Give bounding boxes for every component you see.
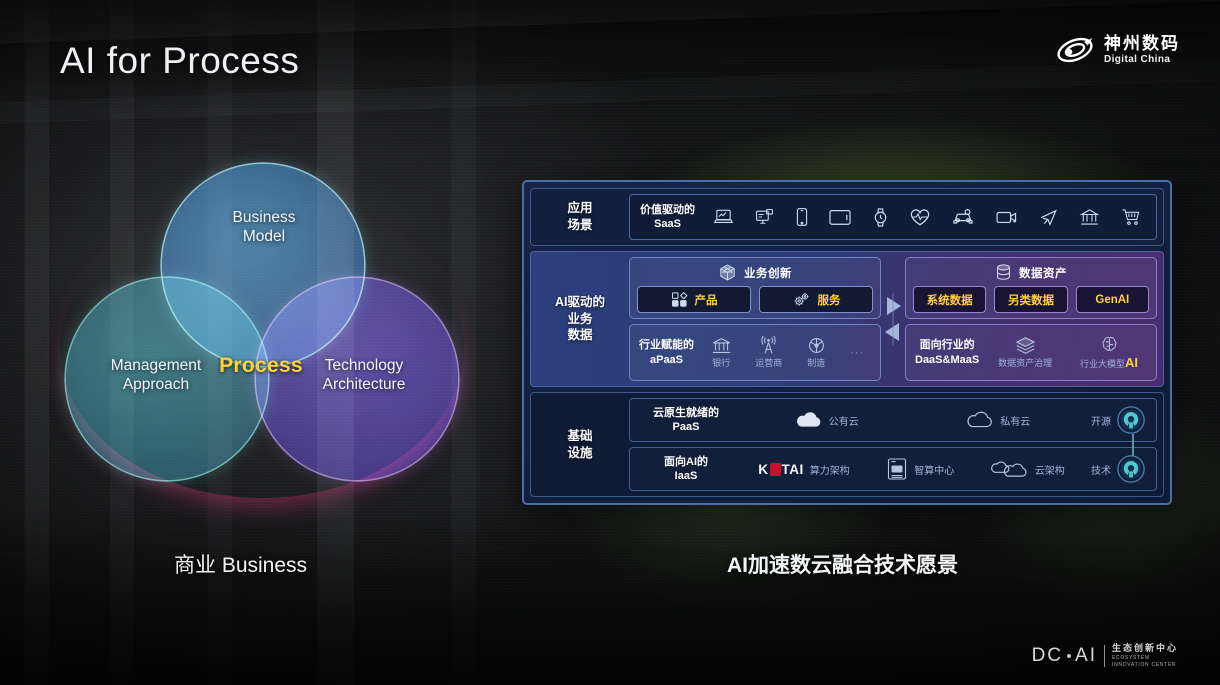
- group-head-data-assets: 数据资产: [913, 263, 1149, 282]
- industry-bank-label: 银行: [712, 356, 730, 369]
- paas-items: 公有云 私有云: [744, 410, 1079, 430]
- svg-text:AI: AI: [894, 467, 900, 473]
- ai-server-icon: AI: [886, 457, 908, 481]
- cloud-architecture-label: 云架构: [1035, 462, 1065, 477]
- row-title-iaas: 面向AI的 IaaS: [640, 455, 732, 484]
- footer-logo-dc: DC: [1032, 645, 1063, 667]
- double-chevron-arrow-icon: [882, 291, 904, 347]
- compute-architecture-label: 算力架构: [810, 462, 850, 477]
- footer-logo-divider: [1104, 645, 1105, 667]
- band-label-ai-driven-business-data: AI驱动的 业务 数据: [531, 252, 629, 386]
- video-camera-icon: [995, 208, 1019, 226]
- chip-product[interactable]: 产品: [637, 286, 751, 313]
- node-opensource-label: 开源: [1091, 413, 1111, 428]
- group-title-business-innovation: 业务创新: [744, 265, 792, 281]
- band-ai-driven-business-data: AI驱动的 业务 数据: [530, 251, 1164, 387]
- opensource-node-icon: [1116, 405, 1146, 435]
- chip-label-product: 产品: [695, 292, 718, 308]
- chip-label-alternative-data: 另类数据: [1008, 292, 1054, 308]
- chips-data-assets: 系统数据 另类数据 GenAI: [913, 286, 1149, 313]
- kutai-logo: KTAI: [758, 462, 804, 477]
- band-label-application-scenarios: 应用 场景: [531, 189, 629, 245]
- group-title-data-assets: 数据资产: [1019, 265, 1067, 281]
- heartbeat-icon: [909, 207, 931, 227]
- footer-logo-ai: AI: [1075, 645, 1097, 667]
- group-data-assets: 数据资产 系统数据 另类数据 GenAI: [905, 257, 1157, 319]
- industry-manufacturing[interactable]: 制造: [806, 336, 827, 369]
- ai-compute-center-label: 智算中心: [914, 462, 954, 477]
- data-layers-icon: [1014, 336, 1037, 355]
- footer-logo-cn: 生态创新中心: [1112, 643, 1178, 653]
- band-body-apps: 价值驱动的 SaaS: [629, 189, 1163, 245]
- caption-tech-vision: AI加速数云融合技术愿景: [727, 549, 958, 579]
- chip-label-system-data: 系统数据: [927, 292, 973, 308]
- digital-china-swirl-icon: [1055, 33, 1095, 67]
- footer-logo: DC AI 生态创新中心 ECOSYSTEM INNOVATION CENTER: [1032, 643, 1178, 669]
- saas-card-title: 价值驱动的 SaaS: [640, 203, 695, 232]
- venn-diagram: Business Model Management Approach Techn…: [66, 164, 458, 504]
- multi-cloud-icon: [991, 458, 1029, 480]
- public-cloud-item[interactable]: 公有云: [793, 410, 859, 430]
- footer-logo-dot-icon: [1067, 654, 1071, 658]
- cloud-filled-icon: [793, 410, 823, 430]
- chip-system-data[interactable]: 系统数据: [913, 286, 986, 313]
- bidirectional-arrow: [881, 257, 905, 381]
- column-business-innovation: 业务创新 产品 服务: [629, 257, 881, 381]
- column-data-assets: 数据资产 系统数据 另类数据 GenAI: [905, 257, 1157, 381]
- data-governance-label: 数据资产治理: [998, 356, 1052, 369]
- data-governance-item[interactable]: 数据资产治理: [998, 336, 1052, 369]
- group-business-innovation: 业务创新 产品 服务: [629, 257, 881, 319]
- node-technology-label: 技术: [1091, 462, 1111, 477]
- band-body-data: 业务创新 产品 服务: [629, 252, 1163, 386]
- cloud-outline-icon: [964, 410, 994, 430]
- group-apaas: 行业赋能的 aPaaS 银行 运营商: [629, 324, 881, 381]
- node-technology[interactable]: 技术: [1091, 454, 1146, 484]
- page-title: AI for Process: [60, 40, 299, 82]
- venn-label-business: Business Model: [202, 208, 326, 247]
- manufacturing-gear-icon: [806, 336, 827, 355]
- car-icon: [951, 207, 975, 227]
- industry-telecom[interactable]: 运营商: [755, 336, 782, 369]
- chip-service[interactable]: 服务: [759, 286, 873, 313]
- chip-label-genai: GenAI: [1095, 294, 1129, 306]
- brand-name-en: Digital China: [1104, 55, 1180, 65]
- caption-business: 商业 Business: [174, 549, 307, 579]
- apaas-industry-items: 银行 运营商 制造 ···: [704, 336, 871, 369]
- industry-llm-item[interactable]: 行业大模型AI: [1080, 335, 1138, 370]
- private-cloud-label: 私有云: [1000, 413, 1030, 428]
- industry-manufacturing-label: 制造: [807, 356, 825, 369]
- band-infrastructure: 基础 设施 云原生就绪的 PaaS 公有云: [530, 392, 1164, 497]
- gears-icon: [792, 291, 811, 308]
- laptop-chart-icon: [713, 207, 734, 227]
- airplane-icon: [1038, 207, 1059, 227]
- chips-business-innovation: 产品 服务: [637, 286, 873, 313]
- chip-label-service: 服务: [818, 292, 841, 308]
- shopping-cart-icon: [1120, 207, 1142, 227]
- database-icon: [995, 263, 1012, 282]
- brand-logo: 神州数码 Digital China: [1055, 33, 1180, 67]
- tablet-icon: [828, 207, 852, 227]
- footer-logo-text: 生态创新中心 ECOSYSTEM INNOVATION CENTER: [1112, 643, 1178, 669]
- brand-name-cn: 神州数码: [1104, 35, 1180, 52]
- saas-card: 价值驱动的 SaaS: [629, 194, 1157, 240]
- group-daas-maas: 面向行业的 DaaS&MaaS 数据资产治理: [905, 324, 1157, 381]
- industry-llm-label: 行业大模型AI: [1080, 355, 1138, 370]
- application-icon-row: [709, 207, 1146, 228]
- public-cloud-label: 公有云: [829, 413, 859, 428]
- node-connector-line: [1132, 434, 1134, 456]
- band-body-infrastructure: 云原生就绪的 PaaS 公有云 私有云 开源: [629, 393, 1163, 496]
- venn-circle-business: [162, 164, 364, 366]
- data-columns: 业务创新 产品 服务: [629, 257, 1157, 381]
- bank-icon: [1079, 207, 1100, 227]
- brain-circuit-icon: [1098, 335, 1121, 354]
- slide-canvas: AI for Process 神州数码 Digital China Busine…: [0, 0, 1220, 685]
- cube-network-icon: [718, 263, 737, 282]
- venn-label-process: Process: [196, 354, 326, 378]
- blocks-icon: [671, 291, 688, 308]
- band-label-infrastructure: 基础 设施: [531, 393, 629, 496]
- node-opensource[interactable]: 开源: [1091, 405, 1146, 435]
- technology-architecture-panel: 应用 场景 价值驱动的 SaaS: [522, 180, 1172, 505]
- group-title-daas-maas: 面向行业的 DaaS&MaaS: [915, 338, 979, 367]
- industry-bank[interactable]: 银行: [711, 336, 732, 369]
- technology-node-icon: [1116, 454, 1146, 484]
- desktop-monitor-icon: [754, 207, 775, 227]
- industry-telecom-label: 运营商: [755, 356, 782, 369]
- band-application-scenarios: 应用 场景 价值驱动的 SaaS: [530, 188, 1164, 246]
- chip-alternative-data[interactable]: 另类数据: [994, 286, 1067, 313]
- industry-more-ellipsis: ···: [850, 347, 864, 359]
- private-cloud-item[interactable]: 私有云: [964, 410, 1030, 430]
- group-head-business-innovation: 业务创新: [637, 263, 873, 282]
- ai-compute-center-item[interactable]: AI 智算中心: [886, 457, 954, 481]
- smartphone-icon: [795, 207, 809, 227]
- daas-maas-items: 数据资产治理: [989, 335, 1147, 370]
- footer-logo-mark: DC AI: [1032, 645, 1097, 667]
- iaas-items: KTAI 算力架构 AI 智算中心: [744, 457, 1079, 481]
- bank-icon: [711, 336, 732, 355]
- row-title-paas: 云原生就绪的 PaaS: [640, 406, 732, 435]
- group-title-apaas: 行业赋能的 aPaaS: [639, 338, 694, 367]
- footer-logo-en-line2: INNOVATION CENTER: [1112, 662, 1178, 669]
- row-ai-oriented-iaas: 面向AI的 IaaS KTAI 算力架构 AI: [629, 447, 1157, 491]
- chip-genai[interactable]: GenAI: [1076, 286, 1149, 313]
- kutai-compute-item[interactable]: KTAI 算力架构: [758, 462, 850, 477]
- row-cloud-native-paas: 云原生就绪的 PaaS 公有云 私有云 开源: [629, 398, 1157, 442]
- smartwatch-icon: [872, 207, 889, 228]
- cloud-architecture-item[interactable]: 云架构: [991, 458, 1065, 480]
- footer-logo-en-line1: ECOSYSTEM: [1112, 655, 1178, 662]
- antenna-tower-icon: [758, 336, 779, 355]
